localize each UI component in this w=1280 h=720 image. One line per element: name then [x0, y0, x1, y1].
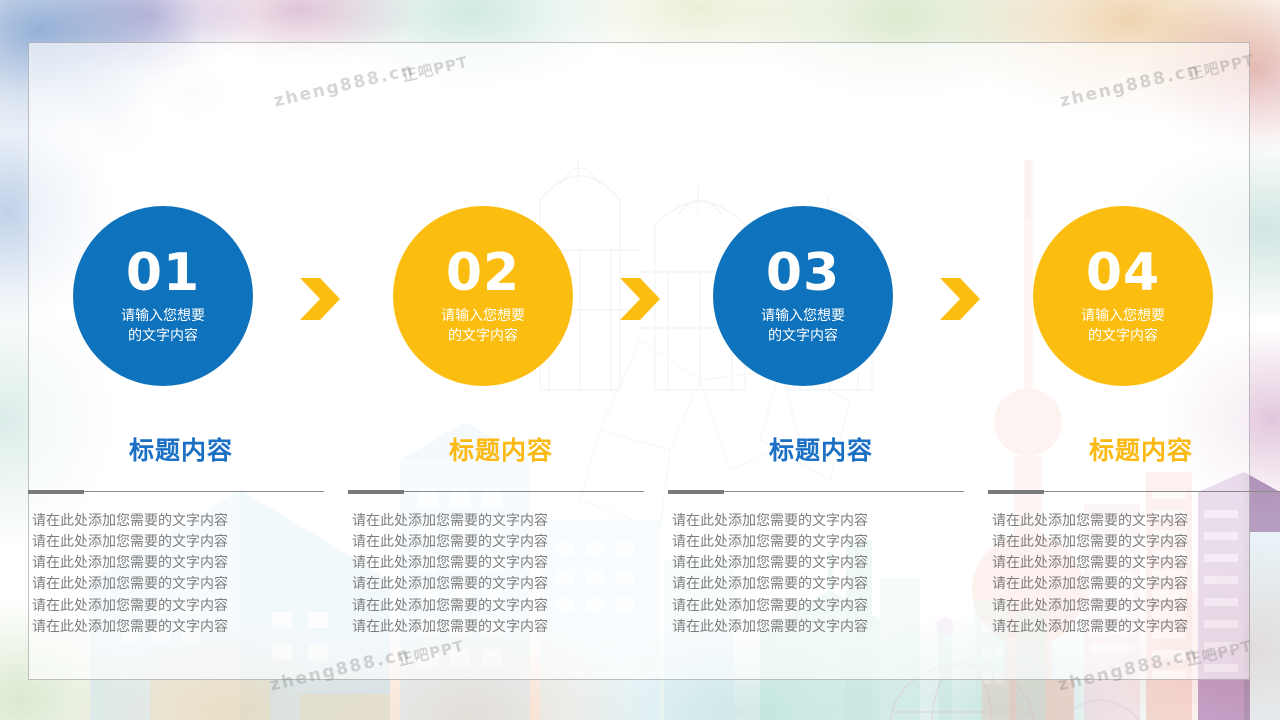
step-number-03: 03 [766, 247, 840, 299]
divider-thick-segment-2 [348, 490, 404, 494]
step-subtitle-01-line1: 请输入您想要 [121, 307, 205, 323]
column-body-line: 请在此处添加您需要的文字内容 [352, 616, 654, 637]
step-subtitle-04-line1: 请输入您想要 [1081, 307, 1165, 323]
column-body-line: 请在此处添加您需要的文字内容 [672, 595, 974, 616]
column-body-line: 请在此处添加您需要的文字内容 [992, 552, 1280, 573]
step-subtitle-02-line1: 请输入您想要 [441, 307, 525, 323]
process-steps-row: 01 请输入您想要 的文字内容 02 请输入您想要 的文字内容 03 请输入您想… [0, 206, 1280, 386]
step-subtitle-01: 请输入您想要 的文字内容 [121, 305, 205, 346]
column-divider-1 [28, 490, 324, 493]
step-circle-04[interactable]: 04 请输入您想要 的文字内容 [1033, 206, 1213, 386]
step-subtitle-04: 请输入您想要 的文字内容 [1081, 305, 1165, 346]
step-circle-02[interactable]: 02 请输入您想要 的文字内容 [393, 206, 573, 386]
step-number-04: 04 [1086, 247, 1160, 299]
column-body-line: 请在此处添加您需要的文字内容 [992, 510, 1280, 531]
column-body-line: 请在此处添加您需要的文字内容 [352, 552, 654, 573]
step-subtitle-02: 请输入您想要 的文字内容 [441, 305, 525, 346]
step-subtitle-03-line2: 的文字内容 [768, 327, 838, 343]
step-subtitle-04-line2: 的文字内容 [1088, 327, 1158, 343]
column-body-line: 请在此处添加您需要的文字内容 [992, 573, 1280, 594]
slide-canvas: zheng888.cn 正吧PPT zheng888.cn 正吧PPT zhen… [0, 0, 1280, 720]
column-body-line: 请在此处添加您需要的文字内容 [992, 616, 1280, 637]
content-column-3: 标题内容 请在此处添加您需要的文字内容 请在此处添加您需要的文字内容 请在此处添… [668, 438, 974, 637]
chevron-arrow-icon-1 [298, 276, 342, 322]
column-body-line: 请在此处添加您需要的文字内容 [992, 595, 1280, 616]
content-column-1: 标题内容 请在此处添加您需要的文字内容 请在此处添加您需要的文字内容 请在此处添… [28, 438, 334, 637]
column-body-line: 请在此处添加您需要的文字内容 [352, 573, 654, 594]
step-subtitle-01-line2: 的文字内容 [128, 327, 198, 343]
column-body-line: 请在此处添加您需要的文字内容 [352, 531, 654, 552]
column-divider-4 [988, 490, 1280, 493]
column-body-line: 请在此处添加您需要的文字内容 [352, 510, 654, 531]
column-body-line: 请在此处添加您需要的文字内容 [992, 531, 1280, 552]
content-column-2: 标题内容 请在此处添加您需要的文字内容 请在此处添加您需要的文字内容 请在此处添… [348, 438, 654, 637]
step-number-01: 01 [126, 247, 200, 299]
column-body-line: 请在此处添加您需要的文字内容 [672, 552, 974, 573]
column-body-line: 请在此处添加您需要的文字内容 [32, 552, 334, 573]
column-body-line: 请在此处添加您需要的文字内容 [32, 531, 334, 552]
column-body-3: 请在此处添加您需要的文字内容 请在此处添加您需要的文字内容 请在此处添加您需要的… [668, 510, 974, 638]
column-title-2: 标题内容 [348, 438, 654, 466]
column-body-line: 请在此处添加您需要的文字内容 [32, 510, 334, 531]
column-divider-2 [348, 490, 644, 493]
column-title-1: 标题内容 [28, 438, 334, 466]
column-body-2: 请在此处添加您需要的文字内容 请在此处添加您需要的文字内容 请在此处添加您需要的… [348, 510, 654, 638]
column-body-line: 请在此处添加您需要的文字内容 [672, 510, 974, 531]
chevron-arrow-icon-3 [938, 276, 982, 322]
column-body-line: 请在此处添加您需要的文字内容 [32, 616, 334, 637]
column-title-4: 标题内容 [988, 438, 1280, 466]
divider-thick-segment-4 [988, 490, 1044, 494]
step-subtitle-03: 请输入您想要 的文字内容 [761, 305, 845, 346]
chevron-arrow-icon-2 [618, 276, 662, 322]
column-divider-3 [668, 490, 964, 493]
column-body-4: 请在此处添加您需要的文字内容 请在此处添加您需要的文字内容 请在此处添加您需要的… [988, 510, 1280, 638]
divider-thick-segment-1 [28, 490, 84, 494]
step-number-02: 02 [446, 247, 520, 299]
column-body-line: 请在此处添加您需要的文字内容 [32, 573, 334, 594]
content-column-4: 标题内容 请在此处添加您需要的文字内容 请在此处添加您需要的文字内容 请在此处添… [988, 438, 1280, 637]
column-body-line: 请在此处添加您需要的文字内容 [672, 616, 974, 637]
step-subtitle-03-line1: 请输入您想要 [761, 307, 845, 323]
column-body-line: 请在此处添加您需要的文字内容 [672, 573, 974, 594]
column-title-3: 标题内容 [668, 438, 974, 466]
divider-thick-segment-3 [668, 490, 724, 494]
step-subtitle-02-line2: 的文字内容 [448, 327, 518, 343]
column-body-line: 请在此处添加您需要的文字内容 [352, 595, 654, 616]
step-circle-03[interactable]: 03 请输入您想要 的文字内容 [713, 206, 893, 386]
column-body-line: 请在此处添加您需要的文字内容 [32, 595, 334, 616]
column-body-line: 请在此处添加您需要的文字内容 [672, 531, 974, 552]
step-circle-01[interactable]: 01 请输入您想要 的文字内容 [73, 206, 253, 386]
column-body-1: 请在此处添加您需要的文字内容 请在此处添加您需要的文字内容 请在此处添加您需要的… [28, 510, 334, 638]
